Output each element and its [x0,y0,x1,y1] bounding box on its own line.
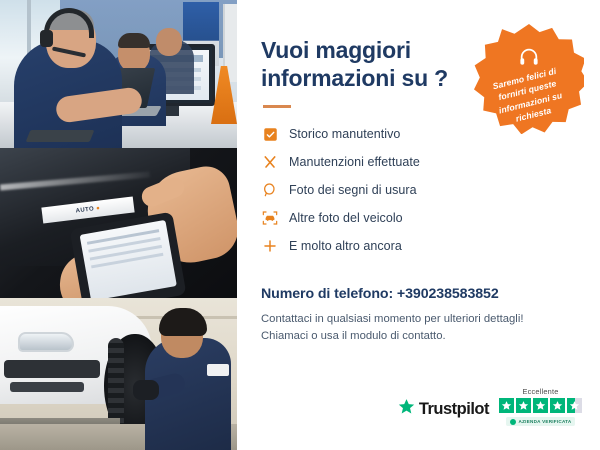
tools-cross-icon [261,153,279,171]
second-agent-hair [118,33,150,48]
contact-line-1: Contattaci in qualsiasi momento per ulte… [261,311,578,328]
mechanic-hair [159,308,207,336]
rating-label: Eccellente [522,387,558,396]
monitor-stand [165,106,179,116]
call-center-agents-photo [0,0,237,148]
phone-number[interactable]: Numero di telefono: +390238583852 [261,286,578,302]
car-scan-icon [261,209,279,227]
list-item: Manutenzioni effettuate [261,148,578,176]
magnifier-icon [261,181,279,199]
keyboard [26,130,95,142]
headlamp [18,332,74,352]
list-item: Altre foto del veicolo [261,204,578,232]
star-filled [499,398,514,413]
feature-label: Altre foto del veicolo [289,211,403,225]
plus-icon [261,237,279,255]
mechanic-wheel-inspection-photo [0,298,237,450]
background-worker-head [156,28,182,56]
page-title: Vuoi maggiori informazioni su ? [261,36,461,92]
star-rating [499,398,582,413]
feature-label: Manutenzioni effettuate [289,155,420,169]
content-panel: Vuoi maggiori informazioni su ? Storico … [237,0,600,450]
contact-line-2: Chiamaci o usa il modulo di contatto. [261,328,578,345]
headset-earcup [40,30,53,47]
star-filled [533,398,548,413]
mechanic-glove [133,380,159,400]
trustpilot-brand: Trustpilot [398,398,489,426]
star-half [567,398,582,413]
trustpilot-widget[interactable]: Trustpilot Eccellente [261,387,582,426]
feature-label: Storico manutentivo [289,127,400,141]
trustpilot-wordmark: Trustpilot [419,400,489,419]
trustpilot-star-logo-icon [398,398,415,420]
callout-badge: Saremo felici di fornirti queste informa… [474,24,584,134]
checkbox-checked-icon [261,125,279,143]
lower-grille [10,382,84,392]
photo-column: AUTO ● [0,0,237,450]
verified-label: AZIENDA VERIFICATA [519,419,572,424]
contact-text: Contattaci in qualsiasi momento per ulte… [261,311,578,345]
star-filled [550,398,565,413]
vehicle-sticker-inspection-photo: AUTO ● [0,148,237,298]
star-filled [516,398,531,413]
feature-label: E molto altro ancora [289,239,402,253]
list-item: Foto dei segni di usura [261,176,578,204]
verified-badge: AZIENDA VERIFICATA [506,417,576,426]
feature-list: Storico manutentivo Manutenzioni effettu… [261,120,578,260]
promo-banner: AUTO ● Vuoi [0,0,600,450]
uniform-logo [207,364,229,376]
title-divider [263,105,291,108]
verified-check-icon [510,419,516,425]
trustpilot-rating: Eccellente [499,387,582,426]
feature-label: Foto dei segni di usura [289,183,417,197]
list-item: E molto altro ancora [261,232,578,260]
tablet-screen [80,220,177,298]
front-grille [4,360,100,378]
